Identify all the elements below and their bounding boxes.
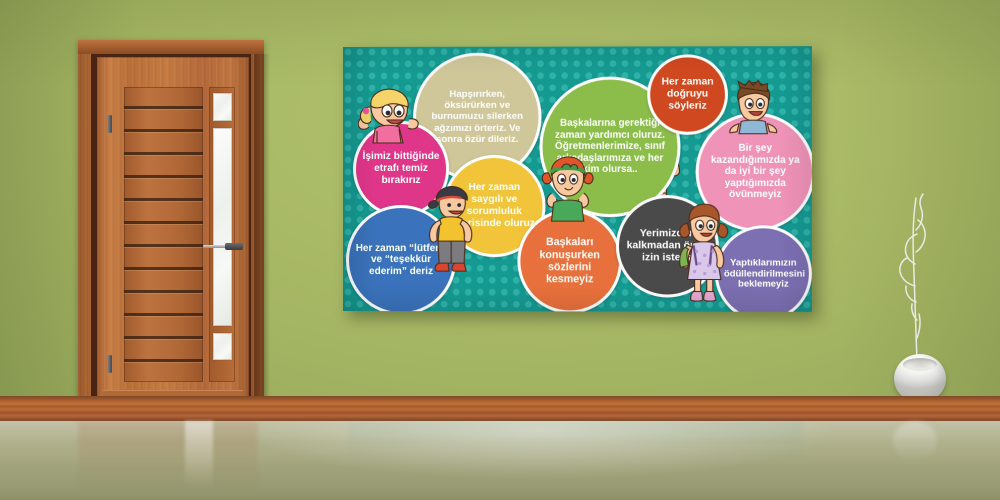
bubble-orange-red-label: Her zaman doğruyu söyleriz <box>656 77 719 113</box>
vase-branches <box>886 190 956 370</box>
floor-sheen <box>0 421 1000 500</box>
door-slat-panel <box>124 87 203 382</box>
door-lock-plate[interactable] <box>225 243 243 250</box>
door-shadow <box>254 54 270 422</box>
bubble-orange-red: Her zaman doğruyu söyleriz <box>647 54 728 134</box>
girl-blonde-pigtail <box>357 87 421 143</box>
door-glass-bottom <box>213 333 232 360</box>
baseboard <box>0 398 1000 422</box>
boy-cap-yellow-shirt <box>423 185 477 277</box>
bubble-cream-label: Hapşırırken, öksürürken ve burnumuzu sil… <box>422 89 532 145</box>
door-slat-lines <box>124 87 203 382</box>
bubble-pink-light-label: Bir şey kazandığımızda ya da iyi bir şey… <box>705 143 806 201</box>
girl-backpack-dress <box>674 203 731 304</box>
boy-brown-hair-peeking <box>727 81 780 133</box>
bubble-orange-label: Başkaları konuşurken sözlerini kesmeyiz <box>526 237 613 286</box>
door-frame-header <box>78 40 264 54</box>
bubble-orange: Başkaları konuşurken sözlerini kesmeyiz <box>517 209 622 312</box>
wall-poster[interactable]: Hapşırırken, öksürürken ve burnumuzu sil… <box>343 46 812 312</box>
bubble-purple-label: Yaptıklarımızın ödüllendirilmesini bekle… <box>724 257 803 290</box>
door-glass-top <box>213 93 232 121</box>
door-glass-column <box>209 87 235 382</box>
decorative-vase <box>886 190 956 402</box>
bubble-pink-magenta-label: İşimiz bittiğinde etrafı temiz bırakırız <box>362 151 440 187</box>
girl-red-hair-headband <box>539 155 595 221</box>
door-glass-main <box>213 128 232 326</box>
door-leaf[interactable] <box>97 57 249 422</box>
room-scene: Hapşırırken, öksürürken ve burnumuzu sil… <box>0 0 1000 500</box>
wooden-door[interactable] <box>78 40 264 422</box>
door-hinge-bottom <box>108 355 112 373</box>
vase-opening <box>903 358 937 371</box>
door-hinge-top <box>108 115 112 133</box>
